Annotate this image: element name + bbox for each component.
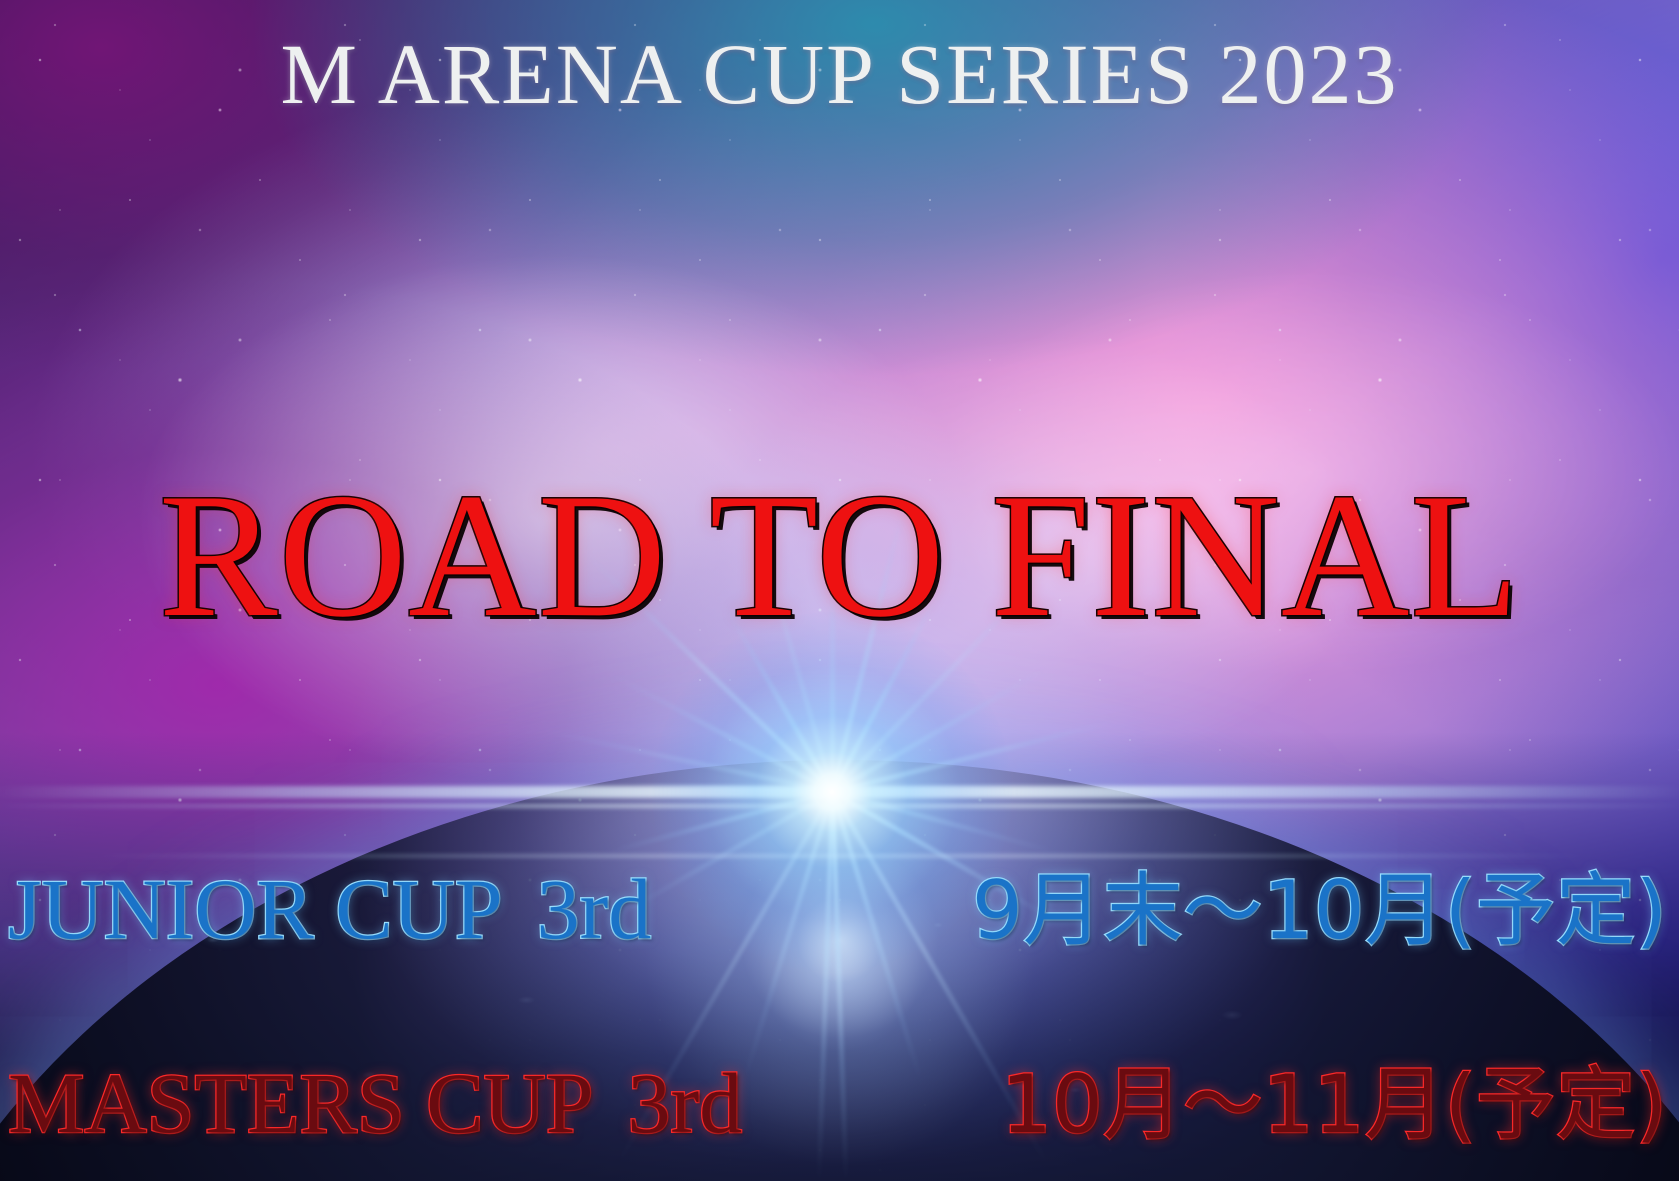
schedule-row-masters: MASTERS CUP 3rd 10月〜11月(予定): [0, 1040, 1679, 1156]
junior-cup-edition: 3rd: [537, 859, 652, 959]
series-title: M ARENA CUP SERIES 2023: [0, 24, 1679, 124]
masters-cup-period: 10月〜11月(予定): [1001, 1040, 1667, 1156]
junior-cup-label: JUNIOR CUP: [8, 859, 503, 959]
poster-canvas: M ARENA CUP SERIES 2023 ROAD TO FINAL JU…: [0, 0, 1679, 1181]
schedule-row-junior: JUNIOR CUP 3rd 9月末〜10月(予定): [0, 846, 1679, 962]
junior-cup-period: 9月末〜10月(予定): [972, 846, 1667, 962]
page-title: ROAD TO FINAL: [0, 452, 1679, 658]
masters-cup-label: MASTERS CUP: [8, 1053, 593, 1153]
masters-cup-edition: 3rd: [627, 1053, 742, 1153]
